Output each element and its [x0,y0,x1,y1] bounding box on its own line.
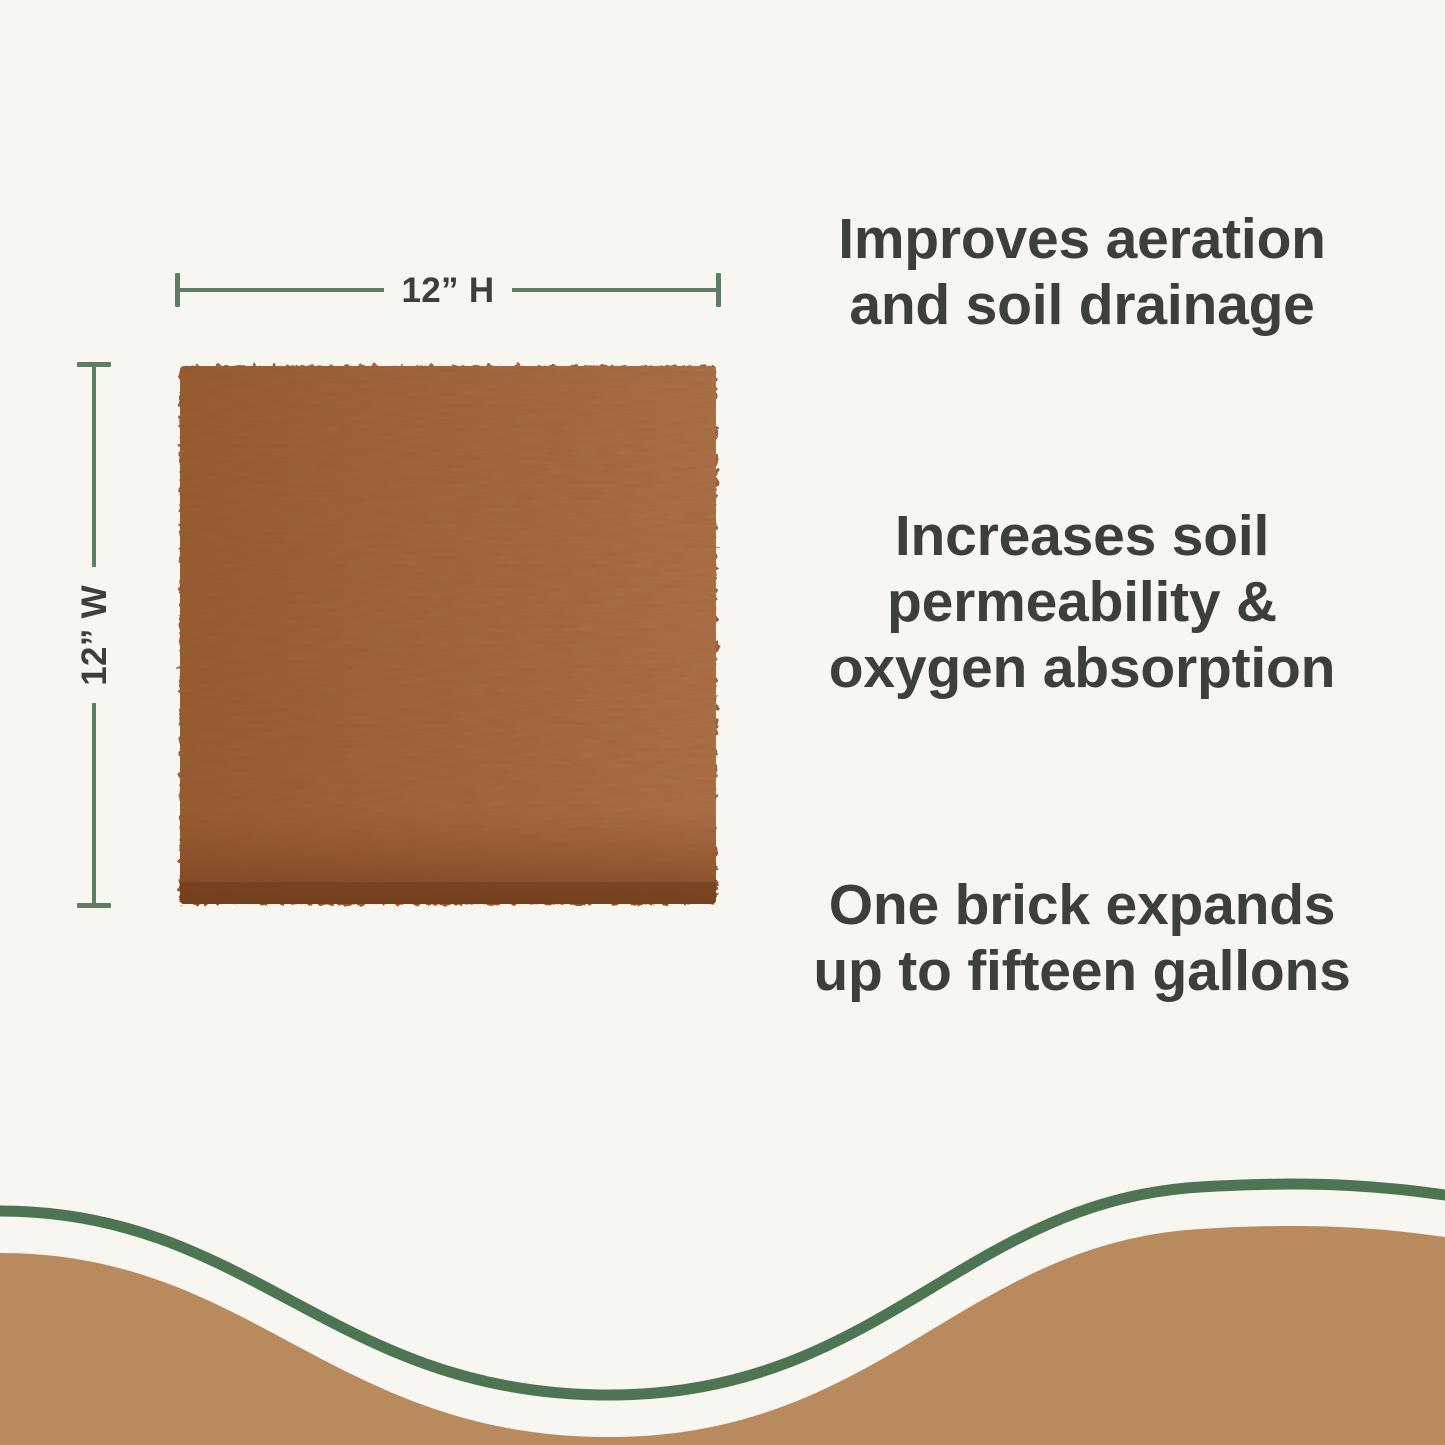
dimension-rule-top-icon [92,367,96,567]
feature-line: Increases soil [762,503,1402,569]
coco-coir-brick-image [172,358,724,912]
feature-line: and soil drainage [762,272,1402,338]
feature-line: One brick expands [762,872,1402,938]
feature-line: oxygen absorption [762,635,1402,701]
dimension-cap-bottom-icon [77,903,111,908]
dimension-line-horizontal: 12” H [175,268,721,312]
footer-wave-decoration [0,1145,1445,1445]
dimension-rule-bottom-icon [92,703,96,903]
dimension-line-vertical: 12” W [72,362,116,908]
feature-text-permeability: Increases soil permeability & oxygen abs… [762,503,1402,701]
dimension-rule-left-icon [180,288,384,292]
dimension-label-horizontal: 12” H [384,273,513,308]
feature-line: permeability & [762,569,1402,635]
feature-text-expansion: One brick expands up to fifteen gallons [762,872,1402,1004]
infographic-canvas: 12” H 12” W [0,0,1445,1445]
dimension-rule-right-icon [512,288,716,292]
dimension-label-vertical: 12” W [77,567,112,704]
feature-line: up to fifteen gallons [762,938,1402,1004]
feature-text-aeration: Improves aeration and soil drainage [762,206,1402,338]
dimension-cap-right-icon [716,273,721,307]
feature-line: Improves aeration [762,206,1402,272]
